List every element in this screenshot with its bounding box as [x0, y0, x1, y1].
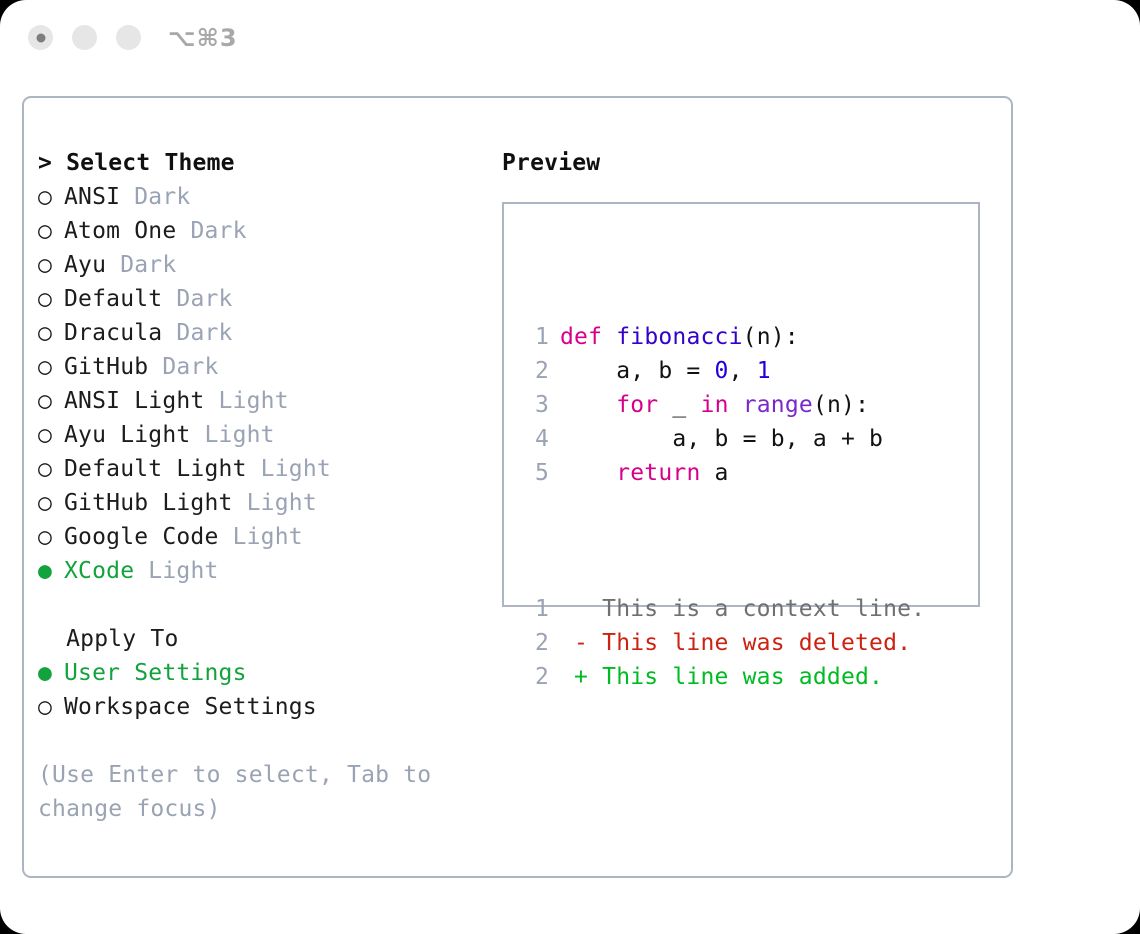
theme-option-ansi[interactable]: ○ ANSI Dark — [38, 180, 488, 214]
diff-line: 2 + This line was added. — [521, 660, 925, 694]
app-window: ⌥⌘3 > Select Theme ○ ANSI Dark○ Atom One… — [0, 0, 1140, 934]
code-line-number: 1 — [521, 320, 549, 354]
apply-to-heading-text: Apply To — [66, 626, 178, 652]
window-dot-minimize[interactable] — [72, 25, 97, 50]
diff-line-number: 1 — [521, 592, 549, 626]
theme-option-tag: Light — [261, 456, 331, 482]
theme-option-dracula[interactable]: ○ Dracula Dark — [38, 316, 488, 350]
theme-option-name: Atom One — [64, 218, 190, 244]
code-token: fibonacci — [616, 324, 742, 350]
theme-option-name: Default Light — [64, 456, 261, 482]
theme-option-tag: Dark — [134, 184, 190, 210]
code-token — [602, 324, 616, 350]
keyboard-hint: (Use Enter to select, Tab to change focu… — [38, 758, 438, 826]
radio-unselected-icon: ○ — [38, 350, 64, 384]
theme-option-google-code[interactable]: ○ Google Code Light — [38, 520, 488, 554]
code-line: 1def fibonacci(n): — [521, 320, 925, 354]
code-line: 4 a, b = b, a + b — [521, 422, 925, 456]
code-token: return — [616, 460, 700, 486]
radio-unselected-icon: ○ — [38, 248, 64, 282]
theme-option-tag: Light — [233, 524, 303, 550]
code-token: 0 — [715, 358, 729, 384]
radio-unselected-icon: ○ — [38, 384, 64, 418]
theme-option-tag: Light — [148, 558, 218, 584]
theme-option-tag: Dark — [120, 252, 176, 278]
diff-line-text: + This line was added. — [560, 664, 883, 690]
theme-option-github-light[interactable]: ○ GitHub Light Light — [38, 486, 488, 520]
theme-option-tag: Light — [219, 388, 289, 414]
theme-option-name: ANSI — [64, 184, 134, 210]
diff-line-number: 2 — [521, 660, 549, 694]
apply-to-option-name: Workspace Settings — [64, 694, 317, 720]
code-line-number: 3 — [521, 388, 549, 422]
theme-option-name: Default — [64, 286, 176, 312]
radio-selected-icon: ● — [38, 554, 64, 588]
theme-option-tag: Dark — [162, 354, 218, 380]
apply-to-heading: Apply To — [38, 622, 488, 656]
theme-picker-column: > Select Theme ○ ANSI Dark○ Atom One Dar… — [38, 146, 488, 826]
theme-option-github[interactable]: ○ GitHub Dark — [38, 350, 488, 384]
code-token — [729, 392, 743, 418]
diff-line-number: 2 — [521, 626, 549, 660]
section-spacer — [38, 588, 488, 622]
page-title-text: Select Theme — [66, 150, 235, 176]
radio-unselected-icon: ○ — [38, 418, 64, 452]
apply-to-option-name: User Settings — [64, 660, 247, 686]
radio-unselected-icon: ○ — [38, 282, 64, 316]
preview-title: Preview — [502, 146, 1002, 180]
keyboard-shortcut-label: ⌥⌘3 — [168, 24, 238, 52]
code-line: 3 for _ in range(n): — [521, 388, 925, 422]
radio-unselected-icon: ○ — [38, 214, 64, 248]
prompt-caret: > — [38, 150, 66, 176]
theme-option-name: Dracula — [64, 320, 176, 346]
code-token: , — [729, 358, 757, 384]
theme-option-tag: Dark — [190, 218, 246, 244]
window-dot-maximize[interactable] — [116, 25, 141, 50]
code-token: a, b = — [560, 358, 715, 384]
radio-unselected-icon: ○ — [38, 452, 64, 486]
theme-option-tag: Light — [204, 422, 274, 448]
diff-block: 1 This is a context line.2 - This line w… — [521, 592, 925, 694]
code-block: 1def fibonacci(n):2 a, b = 0, 13 for _ i… — [521, 320, 925, 490]
theme-option-name: ANSI Light — [64, 388, 219, 414]
apply-to-option-workspace-settings[interactable]: ○ Workspace Settings — [38, 690, 488, 724]
code-token: (n): — [743, 324, 799, 350]
theme-option-name: Ayu — [64, 252, 120, 278]
theme-option-name: GitHub Light — [64, 490, 247, 516]
theme-option-default[interactable]: ○ Default Dark — [38, 282, 488, 316]
code-token: a, b = b, a + b — [560, 426, 883, 452]
theme-option-atom-one[interactable]: ○ Atom One Dark — [38, 214, 488, 248]
main-panel: > Select Theme ○ ANSI Dark○ Atom One Dar… — [22, 96, 1013, 878]
window-dot-close[interactable] — [28, 25, 53, 50]
theme-option-name: XCode — [64, 558, 148, 584]
code-line: 2 a, b = 0, 1 — [521, 354, 925, 388]
code-line: 5 return a — [521, 456, 925, 490]
preview-box: 1def fibonacci(n):2 a, b = 0, 13 for _ i… — [502, 202, 980, 607]
hint-spacer — [38, 724, 488, 758]
radio-unselected-icon: ○ — [38, 316, 64, 350]
theme-option-name: Google Code — [64, 524, 233, 550]
radio-unselected-icon: ○ — [38, 690, 64, 724]
apply-to-list: ● User Settings○ Workspace Settings — [38, 656, 488, 724]
code-line-number: 5 — [521, 456, 549, 490]
theme-option-tag: Light — [247, 490, 317, 516]
radio-unselected-icon: ○ — [38, 180, 64, 214]
code-line-number: 4 — [521, 422, 549, 456]
code-token: range — [743, 392, 813, 418]
theme-option-tag: Dark — [176, 320, 232, 346]
page-title: > Select Theme — [38, 146, 488, 180]
diff-line: 2 - This line was deleted. — [521, 626, 925, 660]
theme-option-ayu[interactable]: ○ Ayu Dark — [38, 248, 488, 282]
radio-selected-icon: ● — [38, 656, 64, 690]
code-line-number: 2 — [521, 354, 549, 388]
radio-unselected-icon: ○ — [38, 486, 64, 520]
theme-option-ayu-light[interactable]: ○ Ayu Light Light — [38, 418, 488, 452]
code-token — [560, 460, 616, 486]
theme-list: ○ ANSI Dark○ Atom One Dark○ Ayu Dark○ De… — [38, 180, 488, 588]
code-token: a — [701, 460, 729, 486]
theme-option-name: Ayu Light — [64, 422, 204, 448]
theme-option-default-light[interactable]: ○ Default Light Light — [38, 452, 488, 486]
code-token: def — [560, 324, 602, 350]
apply-to-option-user-settings[interactable]: ● User Settings — [38, 656, 488, 690]
diff-line-text: - This line was deleted. — [560, 630, 911, 656]
code-token: in — [701, 392, 729, 418]
radio-unselected-icon: ○ — [38, 520, 64, 554]
preview-column: Preview 1def fibonacci(n):2 a, b = 0, 13… — [502, 146, 1002, 607]
code-token: for — [616, 392, 658, 418]
diff-line-text: This is a context line. — [560, 596, 925, 622]
code-token: _ — [658, 392, 700, 418]
code-token — [560, 392, 616, 418]
diff-line: 1 This is a context line. — [521, 592, 925, 626]
theme-option-ansi-light[interactable]: ○ ANSI Light Light — [38, 384, 488, 418]
theme-option-xcode[interactable]: ● XCode Light — [38, 554, 488, 588]
theme-option-name: GitHub — [64, 354, 162, 380]
code-token: 1 — [757, 358, 771, 384]
title-bar: ⌥⌘3 — [0, 0, 1140, 78]
preview-code: 1def fibonacci(n):2 a, b = 0, 13 for _ i… — [521, 252, 925, 762]
window-controls — [28, 25, 141, 50]
theme-option-tag: Dark — [176, 286, 232, 312]
code-token: (n): — [813, 392, 869, 418]
